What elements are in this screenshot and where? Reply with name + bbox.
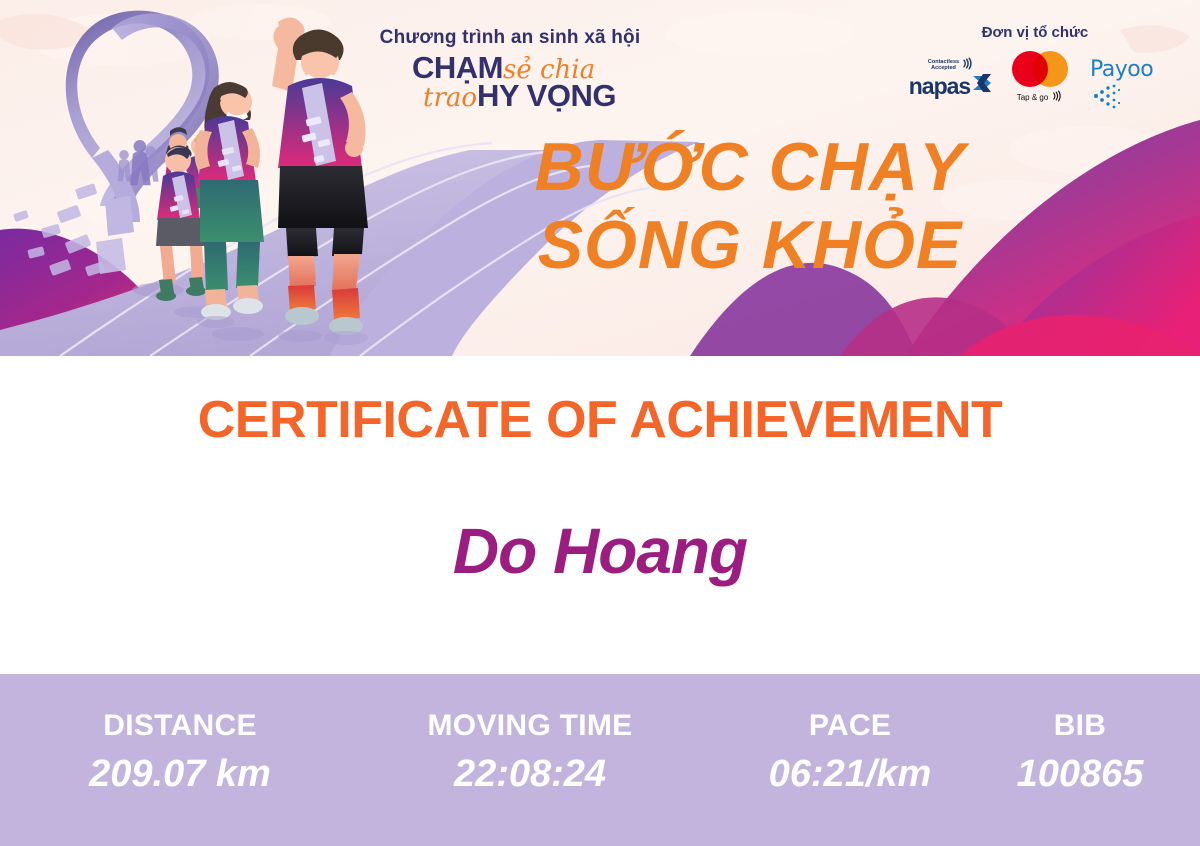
stat-distance-label: DISTANCE [40,708,320,744]
stat-moving-time-label: MOVING TIME [390,708,670,744]
stat-bib: BIB 100865 [975,708,1185,796]
program-line: Chương trình an sinh xã hội [330,27,690,49]
certificate-card: Chương trình an sinh xã hội CHẠMsẻ chia … [0,0,1200,846]
logotype-hyvong: HY VỌNG [477,78,616,113]
stat-bib-label: BIB [975,708,1185,744]
certificate-body: CERTIFICATE OF ACHIEVEMENT Do Hoang [0,356,1200,674]
organizer-block: Đơn vị tổ chức Contactless Accepted [900,24,1170,115]
stat-moving-time-value: 22:08:24 [390,752,670,796]
mastercard-logo: Tap & go [1000,51,1080,104]
contactless-line2: Accepted [931,65,956,71]
tapgo-wave-icon [1051,90,1063,104]
banner-header: Chương trình an sinh xã hội CHẠMsẻ chia … [0,0,1200,356]
tapgo-label: Tap & go [1017,93,1049,102]
sponsor-logo-row: Contactless Accepted [900,51,1170,115]
event-title: BƯỚC CHẠY SỐNG KHỎE [430,128,1070,284]
stat-pace-label: PACE [740,708,960,744]
event-title-line2: SỐNG KHỎE [430,206,1070,284]
organizer-label: Đơn vị tổ chức [900,24,1170,41]
event-title-line1: BƯỚC CHẠY [430,128,1070,206]
stat-moving-time: MOVING TIME 22:08:24 [390,708,670,796]
payoo-burst-icon [1090,83,1120,116]
athlete-name: Do Hoang [0,514,1200,588]
napas-wordmark: napas [909,73,970,99]
logotype-trao: trao [423,83,477,113]
stat-pace: PACE 06:21/km [740,708,960,796]
napas-logo: Contactless Accepted [908,57,994,99]
napas-wordmark-row: napas [908,72,994,99]
payoo-logo: Payoo [1090,57,1170,116]
stat-bib-value: 100865 [975,752,1185,796]
stat-distance: DISTANCE 209.07 km [40,708,320,796]
stat-distance-value: 209.07 km [40,752,320,796]
contactless-caption: Contactless Accepted [908,57,994,72]
napas-arrow-icon [971,72,993,99]
certificate-heading: CERTIFICATE OF ACHIEVEMENT [0,390,1200,450]
payoo-wordmark: Payoo [1090,57,1153,82]
mastercard-circles-icon [1000,51,1080,87]
contactless-wave-icon [961,57,974,72]
stats-bar: DISTANCE 209.07 km MOVING TIME 22:08:24 … [0,674,1200,846]
tapgo-caption: Tap & go [1000,90,1080,104]
campaign-logotype: CHẠMsẻ chia traoHY VỌNG [330,52,690,116]
stat-pace-value: 06:21/km [740,752,960,796]
